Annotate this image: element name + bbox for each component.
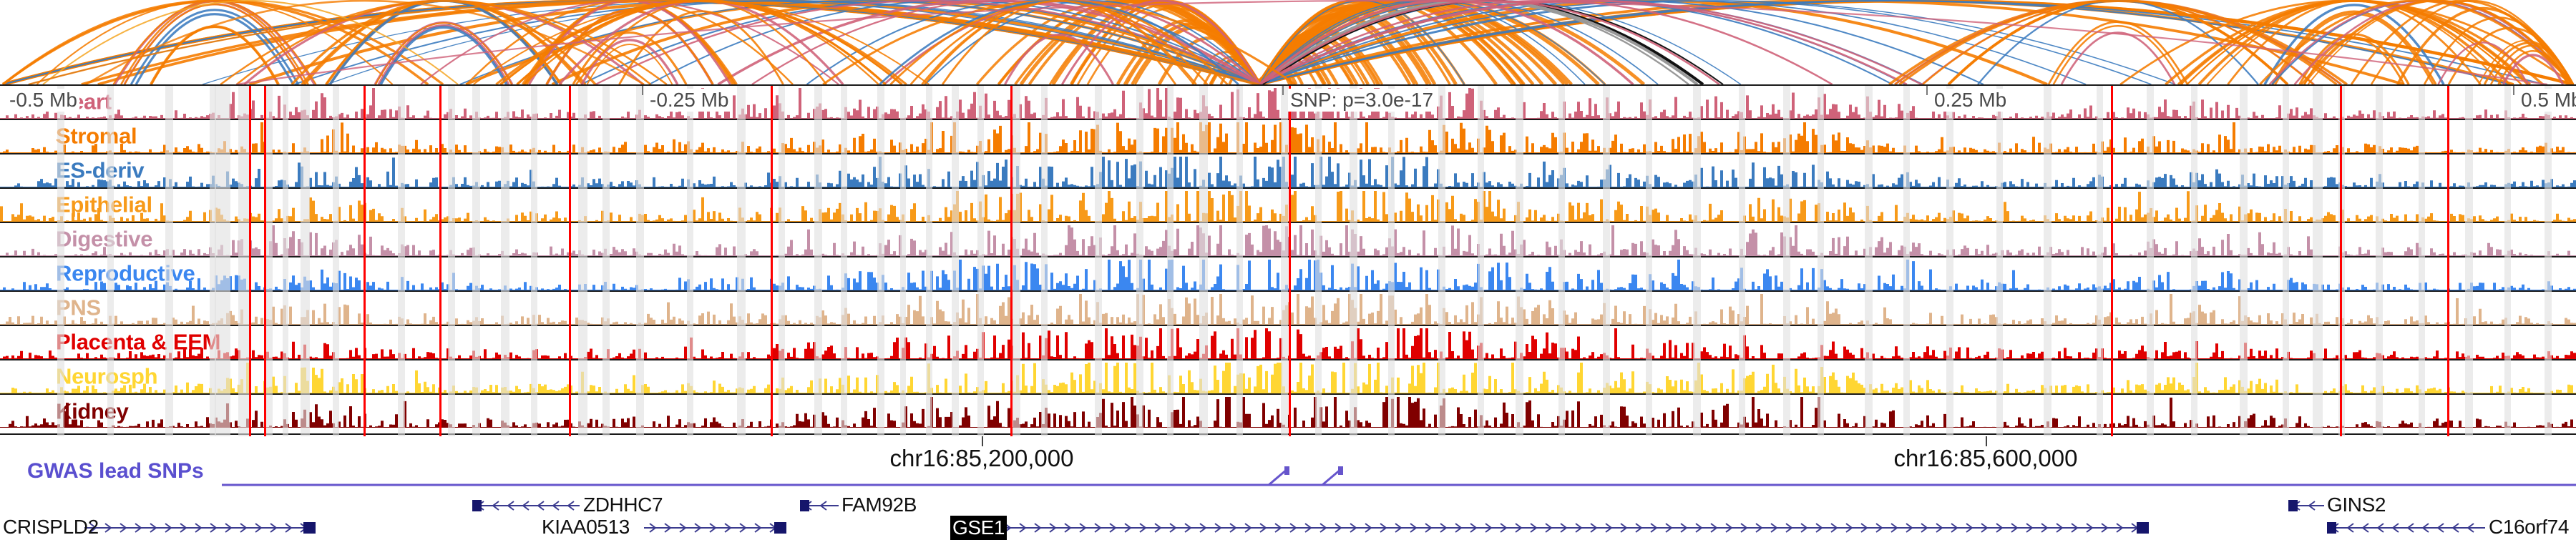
gene-label-gins2[interactable]: GINS2 [2327,494,2386,516]
coordinate-axis: chr16:85,200,000chr16:85,600,000 [0,436,2576,466]
signal-track-pns: PNS [0,292,2576,326]
ruler-tick-1 [642,86,643,95]
signal-track-epithelial: Epithelial [0,189,2576,223]
signal-track-reproductive: Reproductive [0,257,2576,292]
track-signal-path [0,257,2576,290]
track-signal-path [0,223,2576,256]
ruler-tick-2 [1282,86,1284,95]
signal-track-neurosph: Neurosph [0,360,2576,395]
track-signal-path [0,120,2576,153]
track-signal-path [0,154,2576,187]
ruler-label-3: 0.25 Mb [1932,89,2009,112]
track-signal-path [0,326,2576,359]
ruler-label-2: SNP: p=3.0e-17 [1288,89,1435,112]
arc-svg [0,0,2576,84]
signal-track-placenta-eem: Placenta & EEM [0,326,2576,360]
gwas-svg [0,466,2576,494]
ruler-tick-3 [1926,86,1928,95]
signal-track-kidney: Kidney [0,395,2576,429]
ruler-label-0: -0.5 Mb [7,89,79,112]
gwas-lead-snp-track: GWAS lead SNPs [0,466,2576,494]
signal-track-digestive: Digestive [0,223,2576,257]
gene-label-kiaa0513[interactable]: KIAA0513 [542,516,630,539]
signal-track-stack: HeartStromalES-derivEpithelialDigestiveR… [0,84,2576,435]
track-signal-path [0,395,2576,428]
gene-svg [0,492,2576,536]
signal-track-stromal: Stromal [0,120,2576,154]
track-signal-path [0,292,2576,325]
gene-label-crispld2[interactable]: CRISPLD2 [3,516,99,539]
chromatin-interaction-arc-panel [0,0,2576,84]
gene-label-c16orf74[interactable]: C16orf74 [2489,516,2569,539]
signal-track-es-deriv: ES-deriv [0,154,2576,189]
ruler-tick-4 [2513,86,2514,95]
ruler-label-1: -0.25 Mb [648,89,731,112]
track-signal-path [0,189,2576,222]
track-signal-path [0,360,2576,393]
genome-browser-view: HeartStromalES-derivEpithelialDigestiveR… [0,0,2576,536]
gene-annotation-track: ZDHHC7FAM92BGINS2CRISPLD2KIAA0513GSE1C16… [0,492,2576,536]
gene-label-fam92b[interactable]: FAM92B [841,494,917,516]
ruler-label-4: 0.5 Mb [2519,89,2576,112]
gene-label-zdhhc7[interactable]: ZDHHC7 [583,494,663,516]
